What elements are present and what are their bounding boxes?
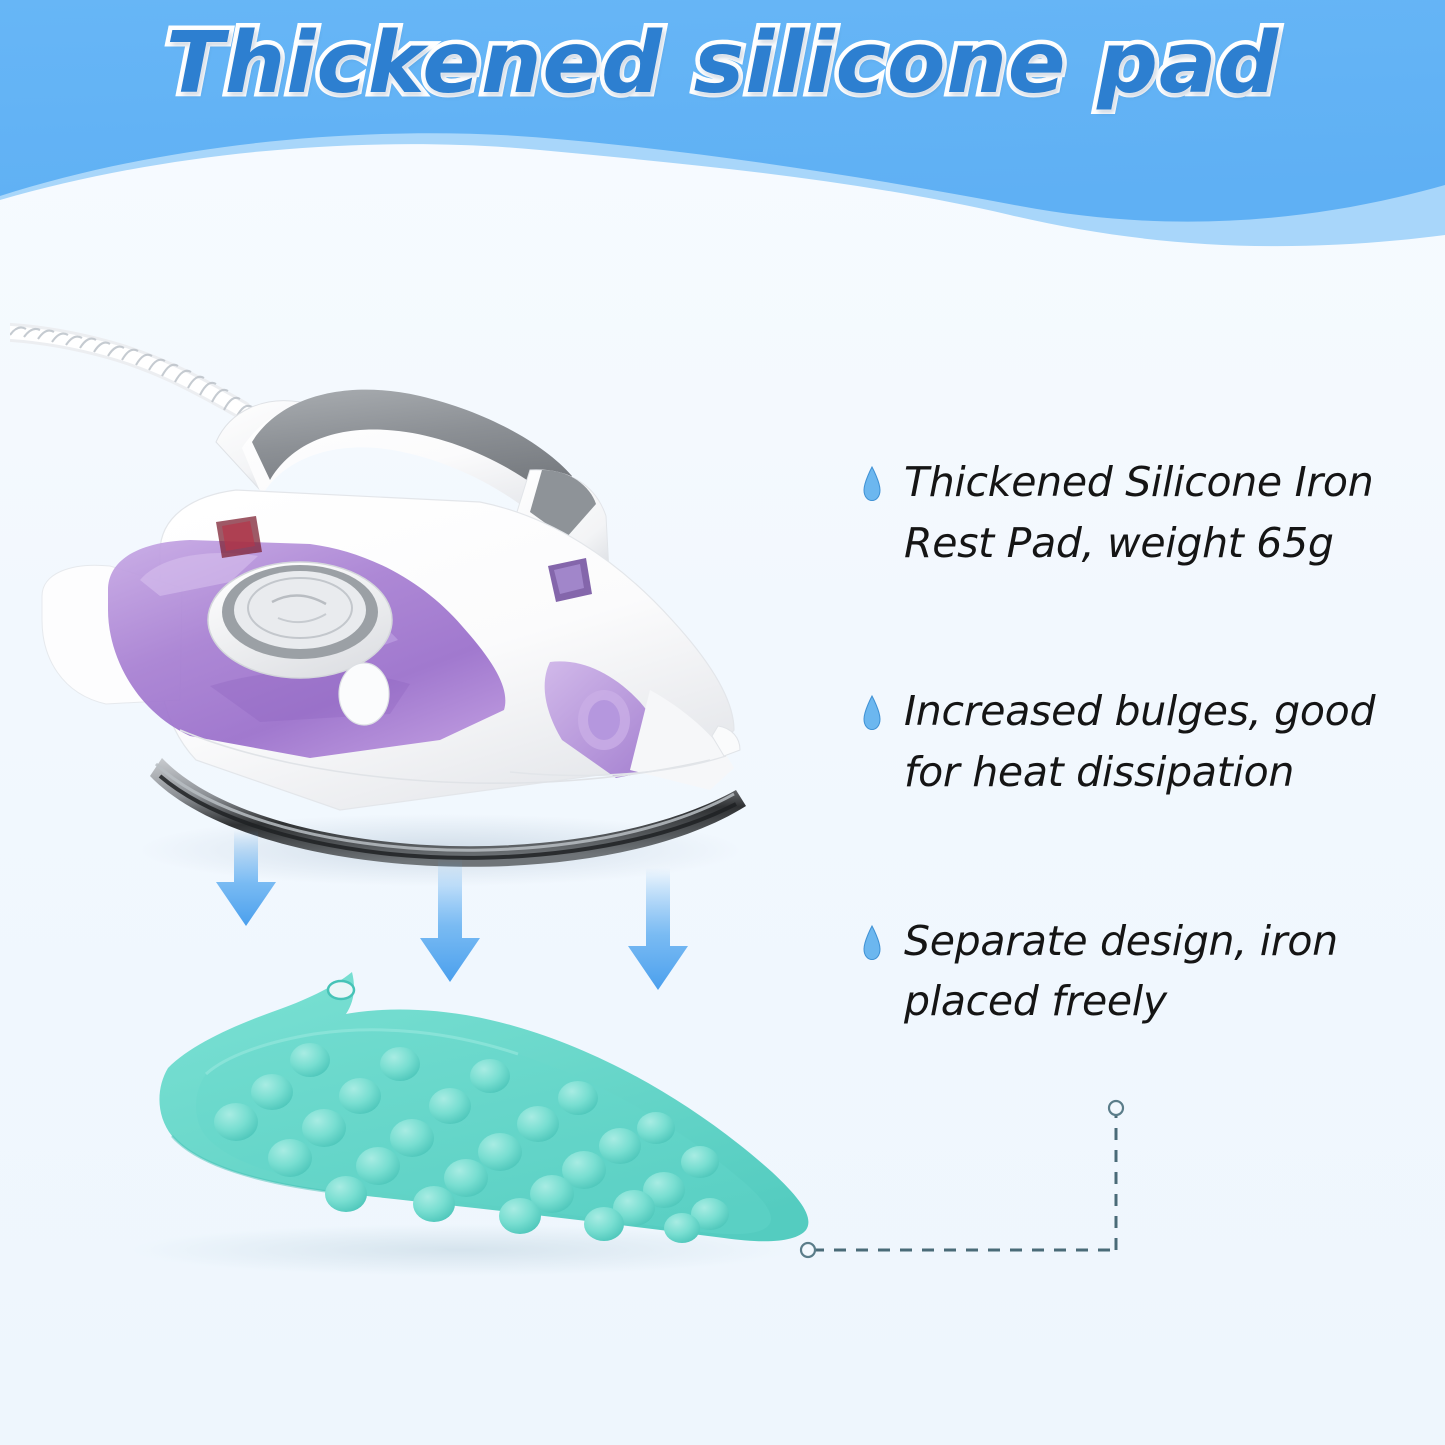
silicone-pad-image <box>60 950 850 1280</box>
feature-list: Thickened Silicone Iron Rest Pad, weight… <box>862 452 1422 1032</box>
steam-iron-image <box>10 290 810 910</box>
callout-endpoint-left <box>801 1243 815 1257</box>
spray-button <box>339 663 389 725</box>
droplet-icon <box>862 466 882 502</box>
feature-item: Thickened Silicone Iron Rest Pad, weight… <box>862 452 1422 573</box>
steam-control-dial <box>208 562 392 678</box>
infographic-page: Thickened silicone pad <box>0 0 1445 1445</box>
callout-endpoint-top <box>1109 1101 1123 1115</box>
feature-text: Separate design, iron placed freely <box>904 911 1422 1032</box>
product-illustration-area <box>0 260 860 1340</box>
hanging-hole <box>328 981 354 999</box>
steam-iron-graphic <box>10 290 810 910</box>
feature-text: Increased bulges, good for heat dissipat… <box>904 681 1422 802</box>
callout-lines <box>780 1080 1200 1310</box>
page-title: Thickened silicone pad <box>0 14 1445 113</box>
droplet-icon <box>862 925 882 961</box>
droplet-icon <box>862 695 882 731</box>
dimension-callout <box>780 1080 1200 1310</box>
header-banner: Thickened silicone pad <box>0 0 1445 270</box>
power-cord <box>10 327 252 418</box>
down-arrow-1 <box>216 830 276 926</box>
feature-item: Separate design, iron placed freely <box>862 911 1422 1032</box>
feature-item: Increased bulges, good for heat dissipat… <box>862 681 1422 802</box>
silicone-pad-graphic <box>60 950 850 1280</box>
feature-text: Thickened Silicone Iron Rest Pad, weight… <box>904 452 1422 573</box>
